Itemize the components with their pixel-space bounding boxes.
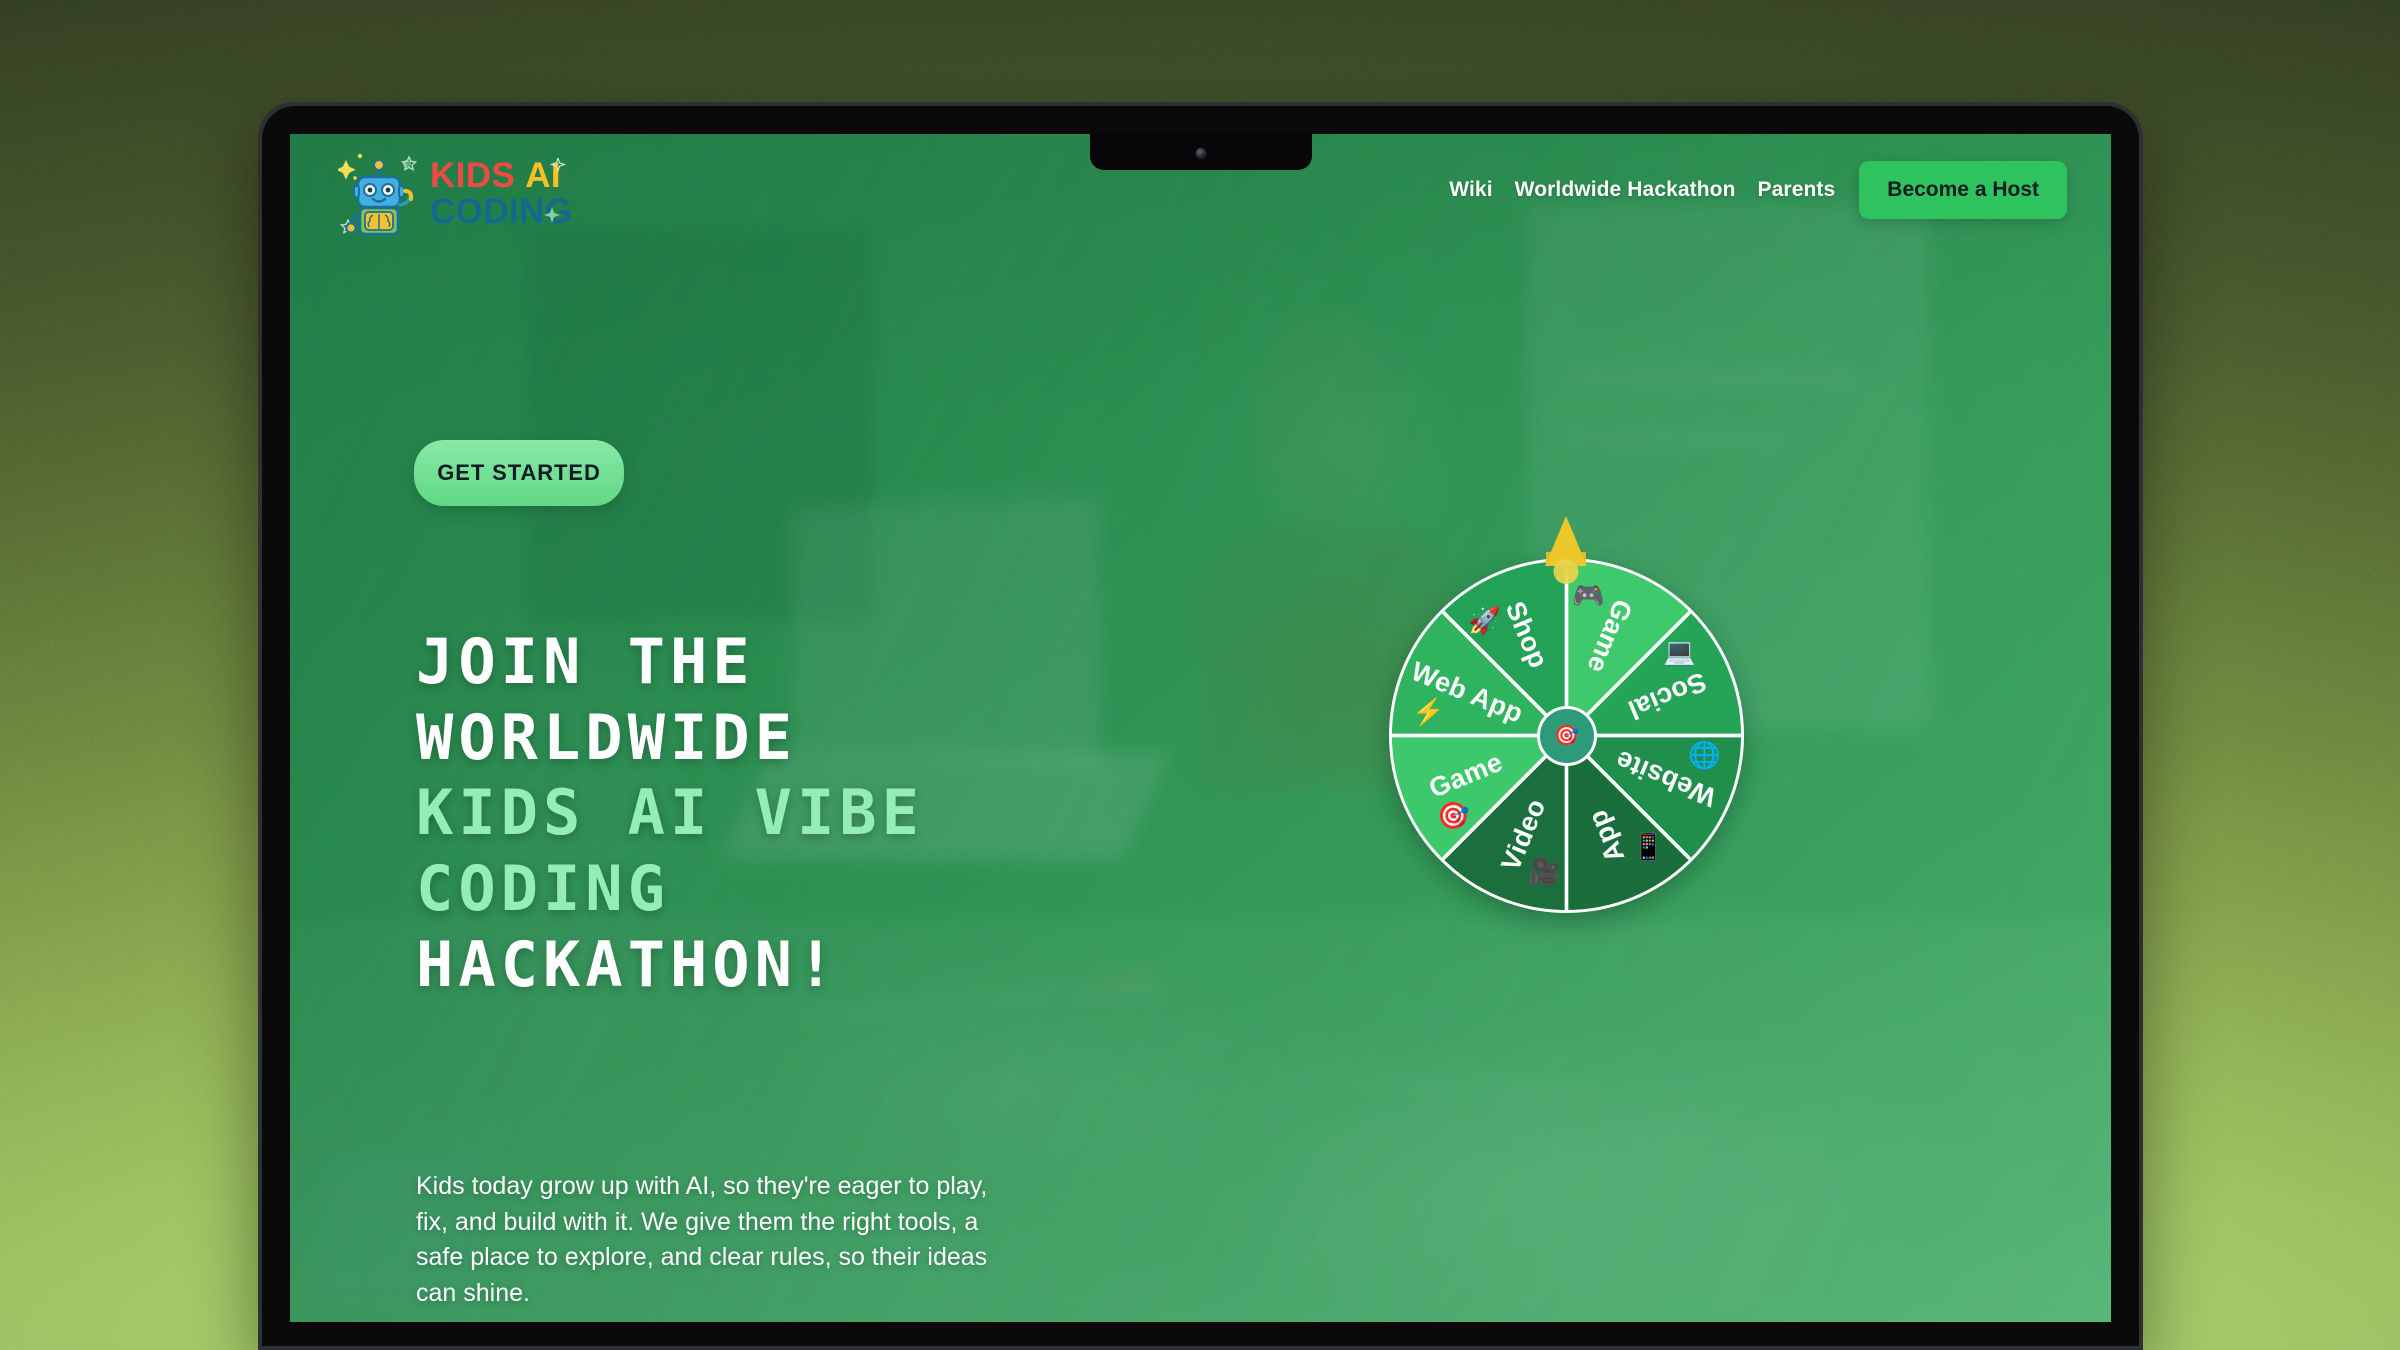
hero-section: GET STARTED JOIN THE WORLDWIDE KIDS AI V… xyxy=(290,134,2111,1322)
nav-link-worldwide-hackathon[interactable]: Worldwide Hackathon xyxy=(1515,178,1736,202)
lightning-icon: ⚡ xyxy=(1412,697,1445,728)
laptop-frame: KIDSAI CODING Wiki xyxy=(258,102,2143,1350)
page-title: JOIN THE WORLDWIDE KIDS AI VIBE CODING H… xyxy=(416,624,1416,1002)
webcam-icon xyxy=(1195,148,1206,159)
robot-mascot-icon xyxy=(338,148,420,240)
headline-line-3: KIDS AI VIBE xyxy=(416,775,1416,851)
camera-icon: 🎥 xyxy=(1528,856,1561,886)
logo-ai-text: AI xyxy=(525,156,561,195)
triangle-pointer-icon xyxy=(1543,516,1589,578)
headline-line-5: HACKATHON! xyxy=(416,927,1416,1003)
brand-logo[interactable]: KIDSAI CODING xyxy=(338,148,572,240)
dart-icon: 🎯 xyxy=(1437,800,1470,830)
dart-target-icon: 🎯 xyxy=(1554,723,1579,748)
logo-coding-text: CODING xyxy=(430,196,572,228)
headline-line-1: JOIN THE xyxy=(416,624,1416,700)
nav-link-wiki[interactable]: Wiki xyxy=(1449,178,1492,202)
logo-kids-text: KIDS xyxy=(430,156,515,195)
gamepad-icon: 🎮 xyxy=(1572,581,1605,611)
laptop-bezel: KIDSAI CODING Wiki xyxy=(262,106,2139,1346)
main-nav: Wiki Worldwide Hackathon Parents Become … xyxy=(1449,134,2067,246)
hero-paragraph: Kids today grow up with AI, so they're e… xyxy=(416,1169,1026,1311)
logo-wordmark: KIDSAI CODING xyxy=(430,160,572,227)
nav-link-parents[interactable]: Parents xyxy=(1758,178,1836,202)
wheel-disc[interactable]: Game🎮Social💻Website🌐App📱Video🎥Game🎯Web A… xyxy=(1389,558,1744,913)
laptop-icon: 💻 xyxy=(1663,636,1696,666)
spin-wheel[interactable]: Game🎮Social💻Website🌐App📱Video🎥Game🎯Web A… xyxy=(1386,516,1746,916)
laptop-screen: KIDSAI CODING Wiki xyxy=(290,134,2111,1322)
page-backdrop: KIDSAI CODING Wiki xyxy=(0,0,2400,1350)
headline-line-2: WORLDWIDE xyxy=(416,700,1416,776)
laptop-notch xyxy=(1090,134,1312,170)
get-started-button[interactable]: GET STARTED xyxy=(414,440,624,506)
rocket-icon: 🚀 xyxy=(1468,605,1501,635)
headline-line-4: CODING xyxy=(416,851,1416,927)
phone-icon: 📱 xyxy=(1632,831,1665,861)
become-a-host-button[interactable]: Become a Host xyxy=(1859,161,2067,219)
globe-icon: 🌐 xyxy=(1688,740,1721,770)
wheel-hub[interactable]: 🎯 xyxy=(1537,706,1597,766)
